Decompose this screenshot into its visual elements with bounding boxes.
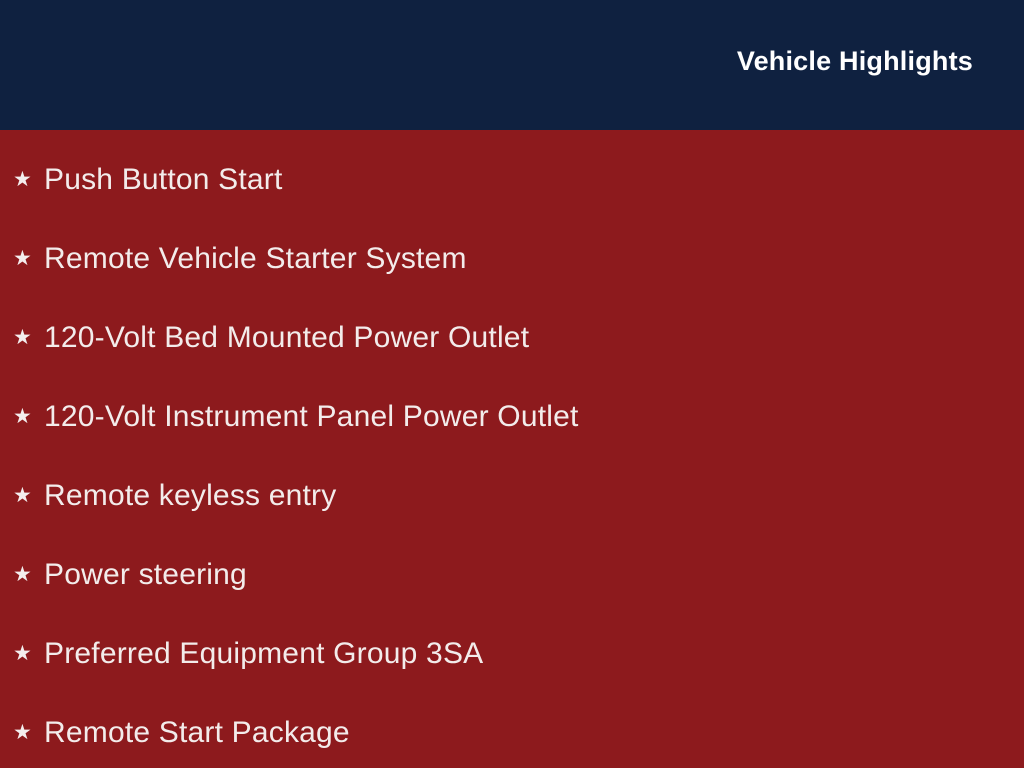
list-item: ★ Power steering — [0, 535, 1024, 614]
list-item: ★ Remote Start Package — [0, 693, 1024, 768]
list-item: ★ 120-Volt Instrument Panel Power Outlet — [0, 377, 1024, 456]
vehicle-highlights-list: ★ Push Button Start ★ Remote Vehicle Sta… — [0, 140, 1024, 768]
list-item: ★ 120-Volt Bed Mounted Power Outlet — [0, 298, 1024, 377]
slide-body: ★ Push Button Start ★ Remote Vehicle Sta… — [0, 130, 1024, 768]
star-icon: ★ — [13, 564, 44, 585]
star-icon: ★ — [13, 248, 44, 269]
list-item: ★ Remote Vehicle Starter System — [0, 219, 1024, 298]
list-item-label: Remote keyless entry — [44, 479, 1024, 512]
star-icon: ★ — [13, 643, 44, 664]
list-item: ★ Preferred Equipment Group 3SA — [0, 614, 1024, 693]
star-icon: ★ — [13, 169, 44, 190]
star-icon: ★ — [13, 722, 44, 743]
star-icon: ★ — [13, 485, 44, 506]
star-icon: ★ — [13, 327, 44, 348]
list-item: ★ Remote keyless entry — [0, 456, 1024, 535]
list-item-label: 120-Volt Bed Mounted Power Outlet — [44, 321, 1024, 354]
vehicle-highlights-slide: Vehicle Highlights ★ Push Button Start ★… — [0, 0, 1024, 768]
list-item-label: Preferred Equipment Group 3SA — [44, 637, 1024, 670]
slide-header: Vehicle Highlights — [0, 0, 1024, 130]
list-item-label: Push Button Start — [44, 163, 1024, 196]
star-icon: ★ — [13, 406, 44, 427]
list-item-label: 120-Volt Instrument Panel Power Outlet — [44, 400, 1024, 433]
list-item: ★ Push Button Start — [0, 140, 1024, 219]
list-item-label: Power steering — [44, 558, 1024, 591]
page-title: Vehicle Highlights — [737, 48, 973, 75]
list-item-label: Remote Start Package — [44, 716, 1024, 749]
list-item-label: Remote Vehicle Starter System — [44, 242, 1024, 275]
